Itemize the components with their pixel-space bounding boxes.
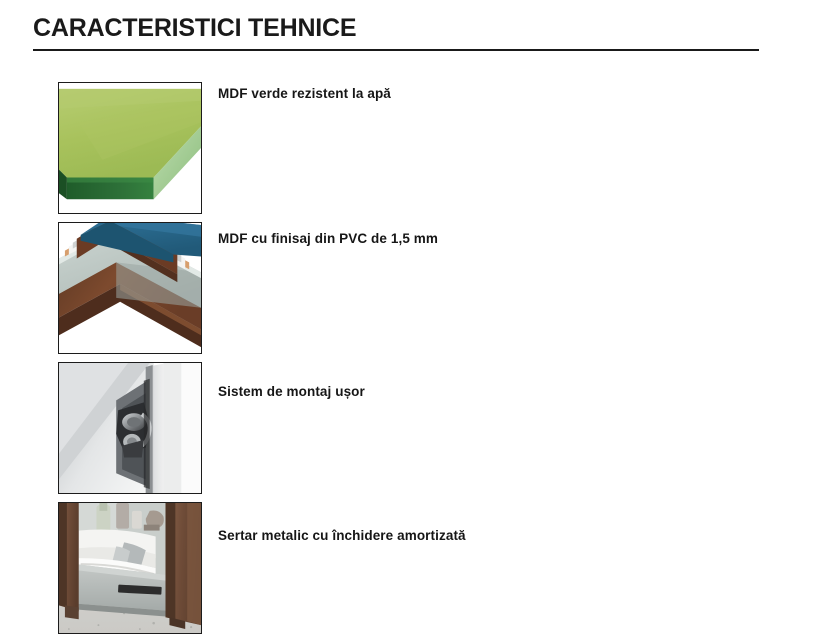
feature-row: MDF cu finisaj din PVC de 1,5 mm [0, 220, 837, 360]
feature-row: MDF verde rezistent la apă [0, 80, 837, 220]
layered-pvc-finish-mdf-panel-photo [58, 222, 202, 354]
page-header: CARACTERISTICI TEHNICE [33, 13, 759, 51]
feature-label: Sertar metalic cu închidere amortizată [218, 527, 466, 545]
title-divider [33, 49, 759, 51]
feature-label: MDF verde rezistent la apă [218, 85, 391, 103]
feature-row: Sistem de montaj ușor [0, 360, 837, 500]
green-waterproof-mdf-board-photo [58, 82, 202, 214]
soft-close-metal-drawer-photo [58, 502, 202, 634]
feature-row: Sertar metalic cu închidere amortizată [0, 500, 837, 640]
page-title: CARACTERISTICI TEHNICE [33, 13, 759, 43]
feature-label: Sistem de montaj ușor [218, 383, 365, 401]
easy-mounting-bracket-photo [58, 362, 202, 494]
features-list: MDF verde rezistent la apă [0, 80, 837, 640]
feature-label: MDF cu finisaj din PVC de 1,5 mm [218, 230, 438, 248]
